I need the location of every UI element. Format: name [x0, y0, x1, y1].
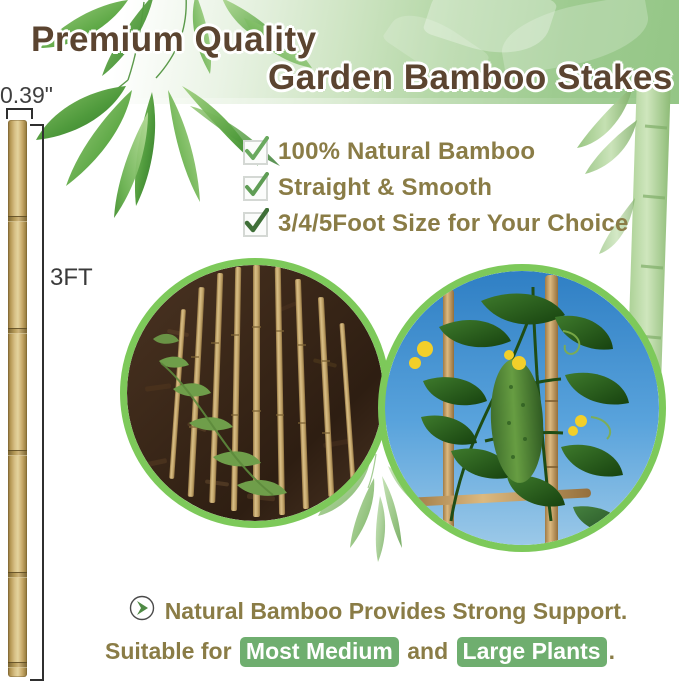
highlight-large-plants: Large Plants: [457, 637, 607, 667]
feature-label: 3/4/5Foot Size for Your Choice: [278, 210, 629, 238]
bottom-line-1-text: Natural Bamboo Provides Strong Support.: [165, 598, 628, 624]
feature-label: 100% Natural Bamboo: [278, 138, 535, 166]
bottom-line-2-prefix: Suitable for: [105, 638, 232, 664]
list-item: Straight & Smooth: [243, 171, 663, 205]
bamboo-stake-product-image: [8, 120, 27, 677]
check-icon: [243, 212, 268, 237]
check-icon: [243, 176, 268, 201]
arrow-circle-right-icon: [129, 594, 155, 632]
length-label: 3FT: [50, 264, 93, 292]
bottom-line-1: Natural Bamboo Provides Strong Support.: [60, 592, 660, 632]
page-title-line1: Premium Quality: [31, 20, 317, 60]
bottom-line-2: Suitable for Most Medium and Large Plant…: [60, 632, 660, 670]
diameter-label: 0.39": [0, 82, 53, 109]
bottom-line-2-suffix: .: [609, 638, 615, 664]
diameter-bracket: [6, 108, 33, 119]
length-bracket: [30, 124, 44, 681]
feature-label: Straight & Smooth: [278, 174, 492, 202]
bottom-line-2-middle: and: [407, 638, 448, 664]
product-infographic: Premium Quality Garden Bamboo Stakes 0.3…: [0, 0, 679, 691]
list-item: 100% Natural Bamboo: [243, 135, 663, 169]
feature-list: 100% Natural Bamboo Straight & Smooth 3/…: [243, 135, 663, 243]
highlight-most-medium: Most Medium: [240, 637, 399, 667]
page-title-line2: Garden Bamboo Stakes: [268, 58, 673, 98]
check-icon: [243, 140, 268, 165]
cucumber-on-bamboo-trellis-photo: [378, 264, 666, 552]
bamboo-stakes-in-soil-photo: [120, 258, 390, 528]
bottom-description: Natural Bamboo Provides Strong Support. …: [60, 592, 660, 670]
list-item: 3/4/5Foot Size for Your Choice: [243, 207, 663, 241]
